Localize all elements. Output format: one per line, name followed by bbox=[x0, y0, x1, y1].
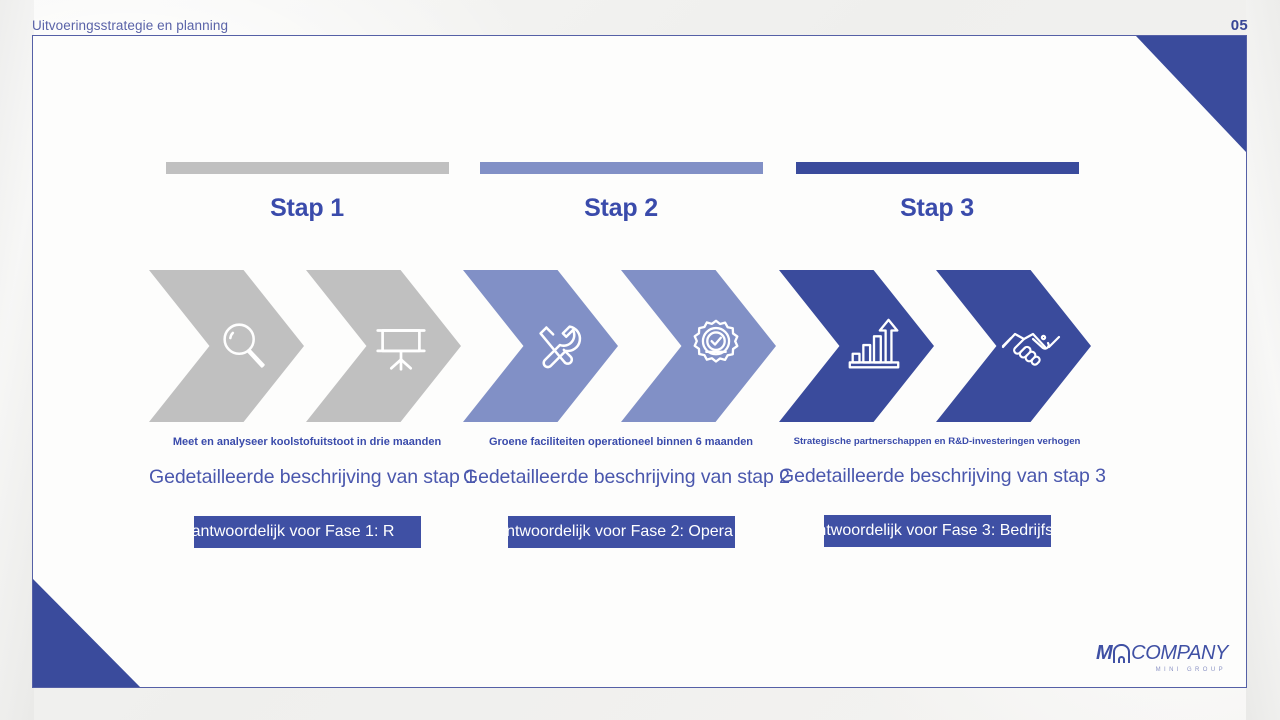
step-owner-wrap-3: Verantwoordelijk voor Fase 3: Bedrijfsst… bbox=[779, 515, 1095, 547]
step-bar-2 bbox=[480, 162, 763, 174]
step-description-2: Gedetailleerde beschrijving van stap 2 bbox=[463, 466, 779, 489]
step-bar-1 bbox=[166, 162, 449, 174]
logo-company-text: COMPANY bbox=[1131, 642, 1228, 665]
document-header: Uitvoeringsstrategie en planning 05 bbox=[32, 14, 1248, 36]
step-header-2: Stap 2 bbox=[463, 162, 779, 223]
step-title-1: Stap 1 bbox=[149, 194, 465, 223]
step-description-1: Gedetailleerde beschrijving van stap 1 bbox=[149, 466, 465, 489]
company-logo: M COMPANY MINI GROUP bbox=[1096, 642, 1228, 673]
step-text-2: Groene faciliteiten operationeel binnen … bbox=[463, 436, 779, 548]
growth-chart-icon bbox=[836, 308, 912, 384]
step-kpi-2: Groene faciliteiten operationeel binnen … bbox=[463, 436, 779, 449]
chevron-1a[interactable] bbox=[149, 270, 304, 422]
logo-wordmark: M COMPANY bbox=[1096, 642, 1228, 665]
magnifier-icon bbox=[206, 308, 282, 384]
handshake-icon bbox=[993, 308, 1069, 384]
step-bar-3 bbox=[796, 162, 1079, 174]
step-owner-wrap-2: Verantwoordelijk voor Fase 2: Opera bbox=[463, 516, 779, 548]
step-text-1: Meet en analyseer koolstofuitstoot in dr… bbox=[149, 436, 465, 548]
chevron-3a[interactable] bbox=[779, 270, 934, 422]
arch-logo-icon bbox=[1113, 644, 1130, 663]
chevron-2a[interactable] bbox=[463, 270, 618, 422]
tools-icon bbox=[520, 308, 596, 384]
logo-tagline: MINI GROUP bbox=[1156, 667, 1226, 673]
document-title: Uitvoeringsstrategie en planning bbox=[32, 18, 228, 33]
page-number: 05 bbox=[1231, 17, 1248, 34]
logo-letter-m: M bbox=[1096, 642, 1112, 665]
chevron-3b[interactable] bbox=[936, 270, 1091, 422]
step-owner-2[interactable]: Verantwoordelijk voor Fase 2: Opera bbox=[508, 516, 735, 548]
step-title-2: Stap 2 bbox=[463, 194, 779, 223]
step-header-1: Stap 1 bbox=[149, 162, 465, 223]
chevron-band bbox=[33, 270, 1246, 422]
step-owner-3[interactable]: Verantwoordelijk voor Fase 3: Bedrijfsst… bbox=[824, 515, 1051, 547]
gear-check-icon bbox=[678, 308, 754, 384]
presentation-board-icon bbox=[363, 308, 439, 384]
step-text-3: Strategische partnerschappen en R&D-inve… bbox=[779, 436, 1095, 547]
slide-canvas[interactable]: Stap 1 Stap 2 Stap 3 bbox=[32, 35, 1247, 688]
chevron-1b[interactable] bbox=[306, 270, 461, 422]
step-description-3: Gedetailleerde beschrijving van stap 3 bbox=[779, 465, 1095, 488]
step-kpi-3: Strategische partnerschappen en R&D-inve… bbox=[779, 436, 1095, 448]
chevron-2b[interactable] bbox=[621, 270, 776, 422]
step-header-3: Stap 3 bbox=[779, 162, 1095, 223]
step-title-3: Stap 3 bbox=[779, 194, 1095, 223]
step-owner-1[interactable]: Verantwoordelijk voor Fase 1: R bbox=[194, 516, 421, 548]
step-owner-wrap-1: Verantwoordelijk voor Fase 1: R bbox=[149, 516, 465, 548]
step-kpi-1: Meet en analyseer koolstofuitstoot in dr… bbox=[149, 436, 465, 449]
